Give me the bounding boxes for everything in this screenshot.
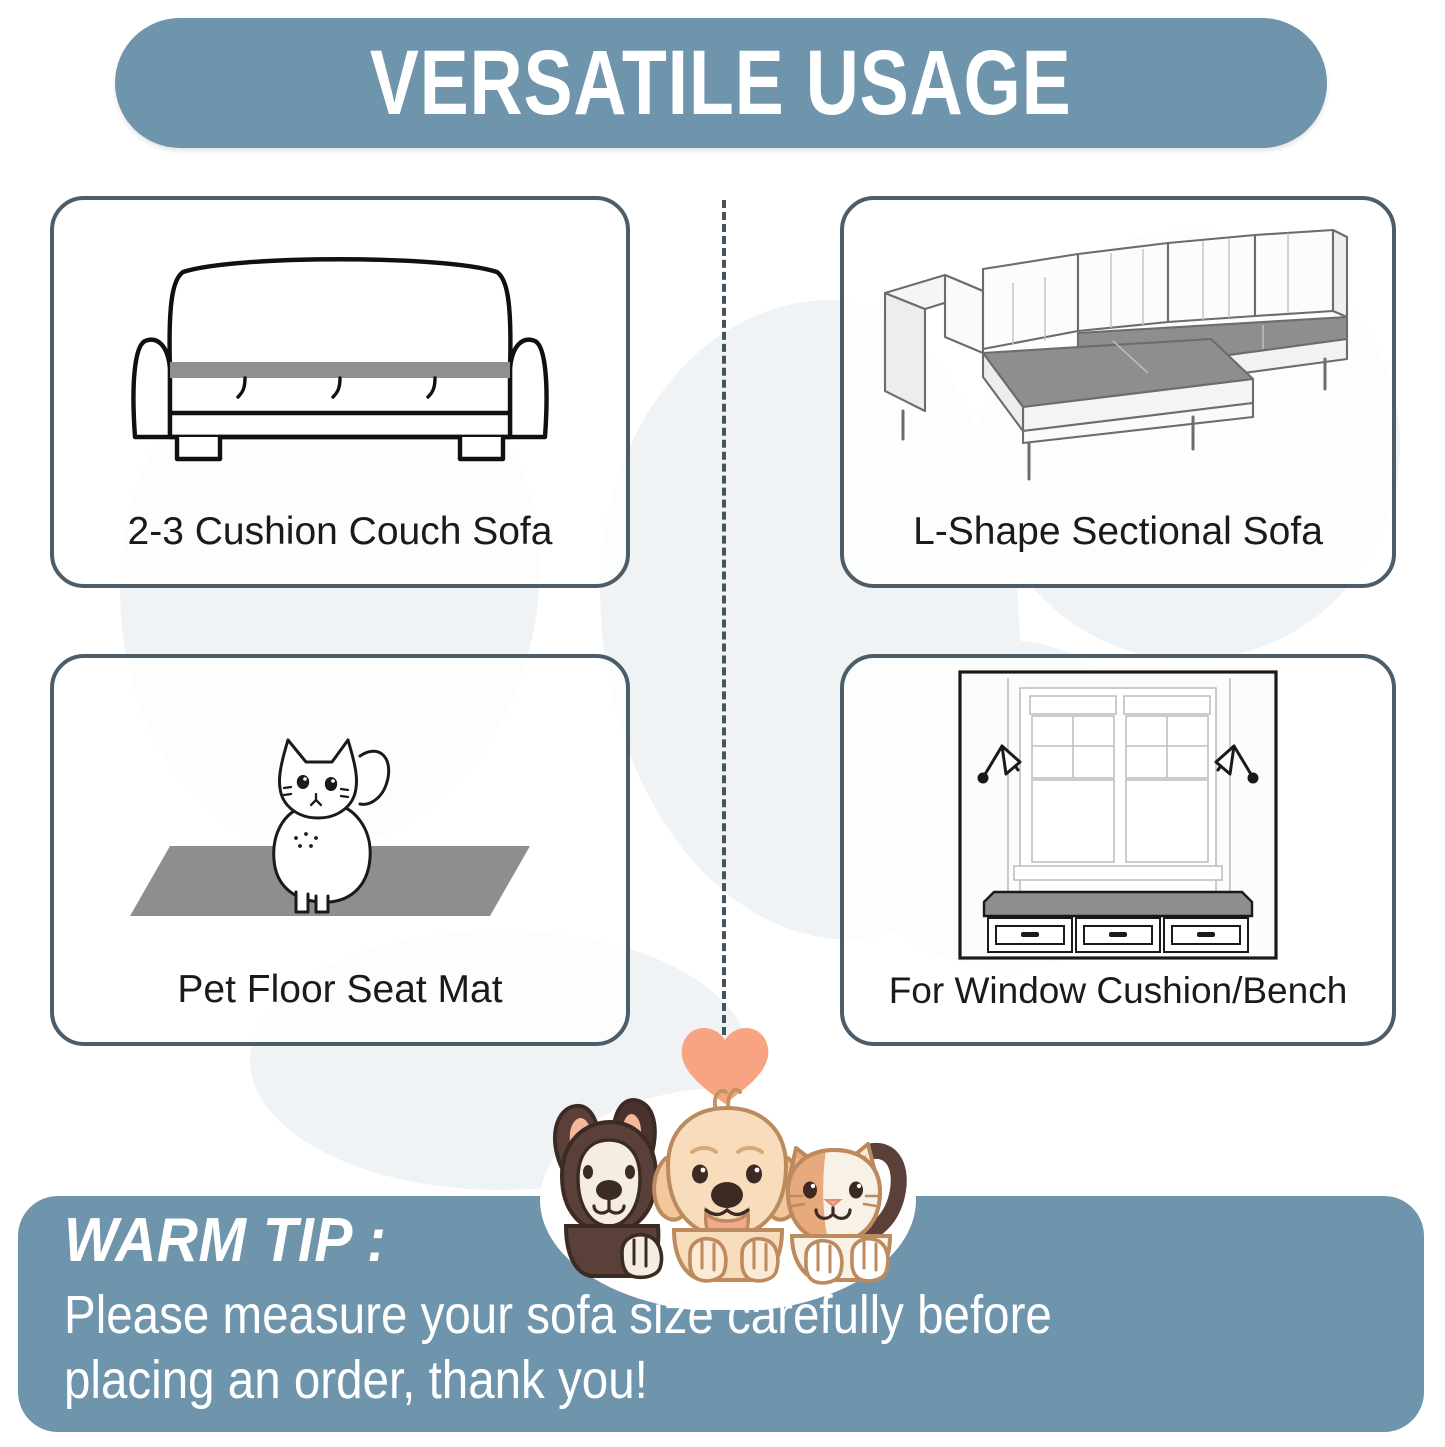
usage-card-window-bench[interactable]: For Window Cushion/Bench bbox=[840, 654, 1396, 1046]
usage-card-sectional-sofa[interactable]: L-Shape Sectional Sofa bbox=[840, 196, 1396, 588]
usage-card-label: L-Shape Sectional Sofa bbox=[844, 511, 1392, 584]
window-bench-illustration bbox=[844, 658, 1392, 971]
couch-sofa-illustration bbox=[54, 200, 626, 511]
pet-mat-illustration bbox=[54, 658, 626, 969]
usage-card-label: 2-3 Cushion Couch Sofa bbox=[54, 511, 626, 584]
pets-illustration bbox=[470, 1000, 980, 1310]
usage-card-grid: 2-3 Cushion Couch Sofa bbox=[0, 0, 1445, 1100]
sectional-sofa-illustration bbox=[844, 200, 1392, 511]
warm-tip-line-2: placing an order, thank you! bbox=[64, 1349, 1220, 1412]
usage-card-couch-sofa[interactable]: 2-3 Cushion Couch Sofa bbox=[50, 196, 630, 588]
usage-card-pet-mat[interactable]: Pet Floor Seat Mat bbox=[50, 654, 630, 1046]
french-bulldog bbox=[555, 1100, 662, 1277]
